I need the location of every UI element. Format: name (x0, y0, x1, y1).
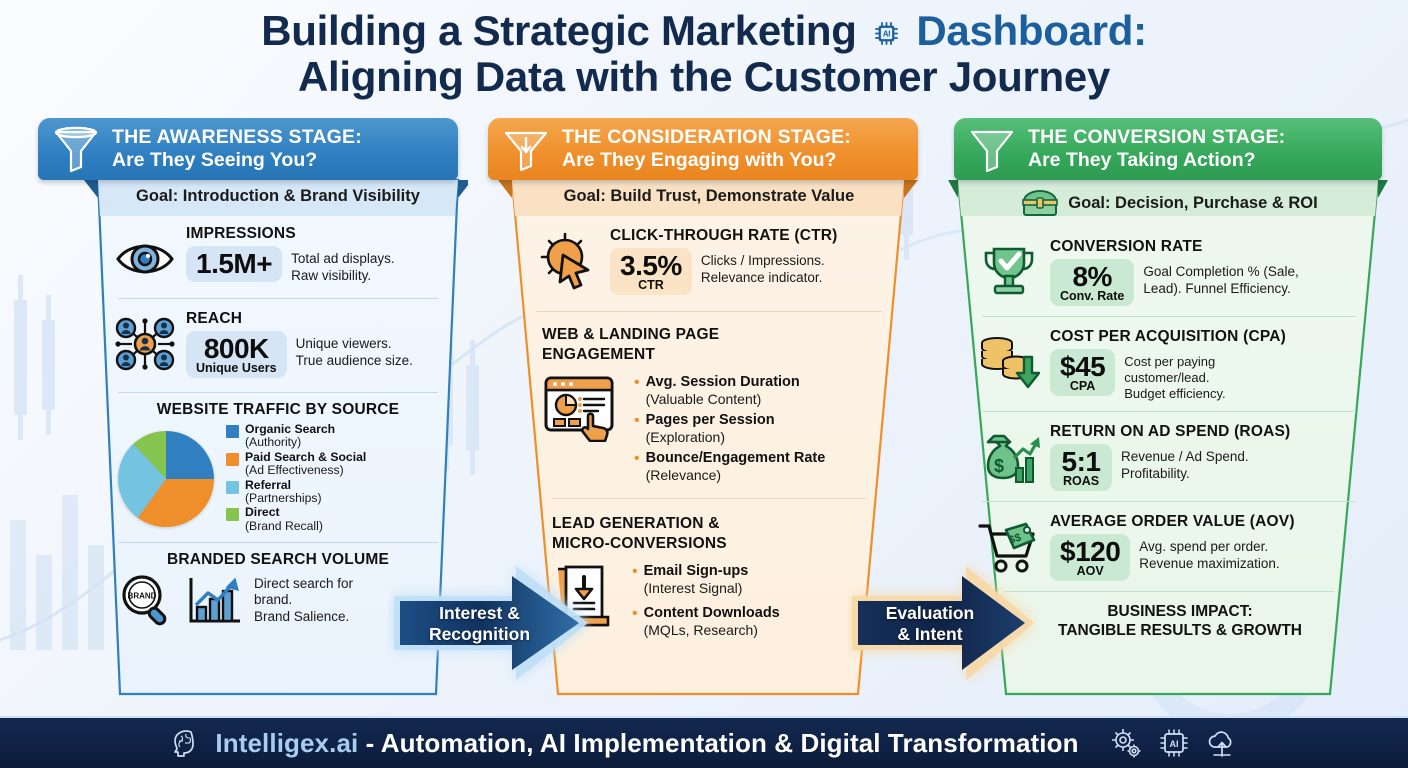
metric-cpa-desc2: customer/lead. (1124, 370, 1225, 386)
metric-conversion-rate: CONVERSION RATE 8% Conv. Rate Goal Compl… (964, 227, 1374, 312)
dashboard-click-icon (542, 372, 618, 442)
metric-reach-pill: 800K Unique Users (186, 331, 287, 378)
item-name: Avg. Session Duration (646, 374, 800, 391)
panel-awareness-header: THE AWARENESS STAGE: Are They Seeing You… (38, 118, 458, 180)
footer-brand: Intelligex.ai (215, 728, 358, 758)
metric-conversion-rate-pill: 8% Conv. Rate (1050, 259, 1134, 306)
legend-item: Direct(Brand Recall) (226, 506, 366, 533)
divider (118, 392, 438, 393)
funnel-arrow-icon (500, 125, 552, 173)
gears-icon (1109, 726, 1143, 760)
group-web-engagement-title-line1: WEB & LANDING PAGE (542, 322, 886, 346)
metric-conversion-rate-unit: Conv. Rate (1060, 290, 1124, 303)
divider (982, 316, 1356, 317)
metric-conversion-rate-title: CONVERSION RATE (1050, 237, 1360, 256)
legend-item: Organic Search(Authority) (226, 423, 366, 450)
svg-text:$: $ (994, 456, 1004, 476)
divider (118, 542, 438, 543)
legend-label: Referral (245, 479, 322, 492)
metric-reach-unit: Unique Users (196, 362, 277, 375)
item-sub: (Interest Signal) (644, 580, 749, 597)
group-leadgen-title-line2: MICRO-CONVERSIONS (552, 535, 886, 555)
divider (536, 311, 882, 312)
branded-search-desc2: brand. (254, 592, 353, 609)
legend-label: Organic Search (245, 423, 335, 436)
metric-impressions-title: IMPRESSIONS (186, 224, 442, 243)
panel-consideration-title-line1: THE CONSIDERATION STAGE: (562, 126, 851, 149)
eye-icon (114, 230, 176, 288)
arrow-interest-recognition: Interest & Recognition (388, 556, 593, 691)
item-name: Content Downloads (644, 605, 780, 622)
list-item: • Email Sign-ups (Interest Signal) (632, 563, 780, 597)
footer-tagline: - Automation, AI Implementation & Digita… (358, 728, 1078, 758)
divider (982, 501, 1356, 502)
title-line1-part-a: Building a Strategic Marketing (261, 7, 856, 54)
list-item: • Pages per Session (Exploration) (634, 412, 825, 446)
click-cursor-icon (538, 232, 600, 290)
metric-roas-value: 5:1 (1060, 446, 1102, 477)
metric-ctr-pill: 3.5% CTR (610, 248, 692, 295)
legend-sublabel: (Ad Effectiveness) (245, 464, 366, 477)
metric-roas: $ RETURN ON AD SPEND (ROAS) 5:1 ROAS (964, 416, 1374, 497)
panel-conversion-title-line2: Are They Taking Action? (1028, 149, 1285, 172)
audience-network-icon (114, 315, 176, 373)
panel-consideration-goal: Goal: Build Trust, Demonstrate Value (518, 180, 900, 214)
group-web-engagement-title-line2: ENGAGEMENT (542, 346, 886, 366)
arrow-1-line1: Interest & (429, 603, 530, 624)
metric-ctr-value: 3.5% (620, 250, 682, 281)
panel-consideration-header: THE CONSIDERATION STAGE: Are They Engagi… (488, 118, 918, 180)
metric-cpa-desc1: Cost per paying (1124, 354, 1225, 370)
pie-chart (118, 431, 214, 527)
title-line1-part-b: Dashboard: (916, 7, 1146, 54)
legend-sublabel: (Authority) (245, 436, 335, 449)
traffic-chart-title: WEBSITE TRAFFIC BY SOURCE (100, 397, 456, 421)
ai-chip-icon: AI (1157, 726, 1191, 760)
list-item: • Avg. Session Duration (Valuable Conten… (634, 374, 825, 408)
branded-search-desc1: Direct search for (254, 576, 353, 593)
metric-impressions-desc1: Total ad displays. (291, 251, 395, 268)
group-leadgen-title-line1: LEAD GENERATION & (552, 511, 886, 535)
infographic-canvas: Building a Strategic Marketing AI Dashbo… (0, 0, 1408, 768)
metric-reach-title: REACH (186, 309, 442, 328)
svg-text:AI: AI (1169, 739, 1178, 749)
funnel-icon (50, 125, 102, 173)
item-sub: (Exploration) (646, 429, 775, 446)
cloud-upload-icon (1205, 726, 1239, 760)
traffic-pie-chart: Organic Search(Authority)Paid Search & S… (100, 421, 456, 534)
panel-conversion-header: THE CONVERSION STAGE: Are They Taking Ac… (954, 118, 1382, 180)
metric-conversion-rate-desc2: Lead). Funnel Efficiency. (1143, 281, 1298, 298)
brand-magnifier-icon: BRAND (116, 573, 176, 627)
group-web-engagement-items: • Avg. Session Duration (Valuable Conten… (634, 374, 825, 488)
legend-label: Direct (245, 506, 323, 519)
metric-cpa-desc3: Budget efficiency. (1124, 386, 1225, 402)
ai-chip-icon: AI (873, 20, 900, 47)
page-title: Building a Strategic Marketing AI Dashbo… (0, 8, 1408, 100)
divider (1004, 591, 1334, 592)
metric-reach-desc2: True audience size. (296, 353, 413, 370)
group-leadgen-items: • Email Sign-ups (Interest Signal) • Con… (632, 563, 780, 643)
metric-roas-pill: 5:1 ROAS (1050, 444, 1112, 491)
brain-profile-icon (169, 727, 201, 759)
footer-bar: Intelligex.ai - Automation, AI Implement… (0, 716, 1408, 768)
legend-swatch (226, 425, 239, 438)
pie-legend: Organic Search(Authority)Paid Search & S… (226, 423, 366, 534)
metric-reach-value: 800K (196, 333, 277, 364)
item-name: Email Sign-ups (644, 563, 749, 580)
legend-sublabel: (Brand Recall) (245, 520, 323, 533)
item-sub: (Valuable Content) (646, 391, 800, 408)
metric-conversion-rate-desc1: Goal Completion % (Sale, (1143, 264, 1298, 281)
metric-reach: REACH 800K Unique Users Unique viewers. … (100, 303, 456, 384)
footer-icon-group: AI (1109, 726, 1239, 760)
legend-label: Paid Search & Social (245, 451, 366, 464)
metric-conversion-rate-value: 8% (1060, 261, 1124, 292)
item-name: Pages per Session (646, 412, 775, 429)
item-name: Bounce/Engagement Rate (646, 450, 826, 467)
metric-cpa-title: COST PER ACQUISITION (CPA) (1050, 327, 1360, 346)
metric-cpa-value: $45 (1060, 351, 1105, 382)
panel-conversion-title-line1: THE CONVERSION STAGE: (1028, 126, 1285, 149)
metric-aov-pill: $120 AOV (1050, 534, 1130, 581)
treasure-chest-icon (1020, 187, 1060, 219)
arrow-1-label: Interest & Recognition (429, 603, 530, 645)
arrow-1-line2: Recognition (429, 624, 530, 645)
arrow-2-line1: Evaluation (886, 603, 975, 624)
metric-aov-value: $120 (1060, 536, 1120, 567)
arrow-evaluation-intent: Evaluation & Intent (848, 556, 1038, 691)
metric-ctr: CLICK-THROUGH RATE (CTR) 3.5% CTR Clicks… (518, 214, 900, 301)
svg-text:BRAND: BRAND (128, 592, 157, 601)
legend-sublabel: (Partnerships) (245, 492, 322, 505)
metric-cpa: COST PER ACQUISITION (CPA) $45 CPA Cost … (964, 321, 1374, 407)
panel-awareness-title-line2: Are They Seeing You? (112, 149, 362, 172)
metric-roas-desc1: Revenue / Ad Spend. (1121, 449, 1249, 466)
metric-impressions: IMPRESSIONS 1.5M+ Total ad displays. Raw… (100, 214, 456, 294)
legend-swatch (226, 508, 239, 521)
legend-swatch (226, 481, 239, 494)
money-bag-growth-icon: $ (978, 428, 1040, 486)
metric-roas-desc2: Profitability. (1121, 466, 1249, 483)
list-item: • Content Downloads (MQLs, Research) (632, 605, 780, 639)
growth-bar-chart-icon (186, 573, 244, 627)
divider (982, 411, 1356, 412)
divider (118, 298, 438, 299)
item-sub: (Relevance) (646, 467, 826, 484)
panel-conversion-goal: Goal: Decision, Purchase & ROI (1068, 194, 1317, 213)
divider (552, 498, 866, 499)
panel-consideration-title-line2: Are They Engaging with You? (562, 149, 851, 172)
arrow-2-label: Evaluation & Intent (886, 603, 975, 645)
svg-text:AI: AI (883, 29, 890, 38)
metric-aov-desc1: Avg. spend per order. (1139, 539, 1279, 556)
arrow-2-line2: & Intent (886, 624, 975, 645)
metric-cpa-pill: $45 CPA (1050, 349, 1115, 396)
business-impact-line2: TANGIBLE RESULTS & GROWTH (986, 621, 1374, 640)
panel-conversion-goal-row: Goal: Decision, Purchase & ROI (964, 180, 1374, 227)
item-sub: (MQLs, Research) (644, 622, 780, 639)
business-impact-line1: BUSINESS IMPACT: (986, 602, 1374, 621)
funnel-icon (966, 125, 1018, 173)
metric-ctr-desc1: Clicks / Impressions. (701, 253, 825, 270)
legend-swatch (226, 453, 239, 466)
coins-down-arrow-icon (978, 333, 1040, 391)
metric-aov-desc2: Revenue maximization. (1139, 556, 1279, 573)
panel-awareness-goal: Goal: Introduction & Brand Visibility (100, 180, 456, 214)
metric-roas-title: RETURN ON AD SPEND (ROAS) (1050, 422, 1360, 441)
branded-search-desc3: Brand Salience. (254, 609, 353, 626)
footer-text: Intelligex.ai - Automation, AI Implement… (215, 728, 1078, 759)
metric-aov-title: AVERAGE ORDER VALUE (AOV) (1050, 512, 1360, 531)
metric-impressions-desc2: Raw visibility. (291, 268, 395, 285)
trophy-check-icon (978, 243, 1040, 301)
panel-awareness-title-line1: THE AWARENESS STAGE: (112, 126, 362, 149)
metric-roas-unit: ROAS (1060, 475, 1102, 488)
metric-ctr-desc2: Relevance indicator. (701, 270, 825, 287)
list-item: • Bounce/Engagement Rate (Relevance) (634, 450, 825, 484)
metric-ctr-title: CLICK-THROUGH RATE (CTR) (610, 226, 886, 245)
metric-impressions-value: 1.5M+ (196, 248, 272, 279)
legend-item: Paid Search & Social(Ad Effectiveness) (226, 451, 366, 478)
title-line2: Aligning Data with the Customer Journey (0, 54, 1408, 100)
legend-item: Referral(Partnerships) (226, 479, 366, 506)
metric-reach-desc1: Unique viewers. (296, 336, 413, 353)
metric-impressions-pill: 1.5M+ (186, 246, 282, 282)
metric-aov-unit: AOV (1060, 565, 1120, 578)
